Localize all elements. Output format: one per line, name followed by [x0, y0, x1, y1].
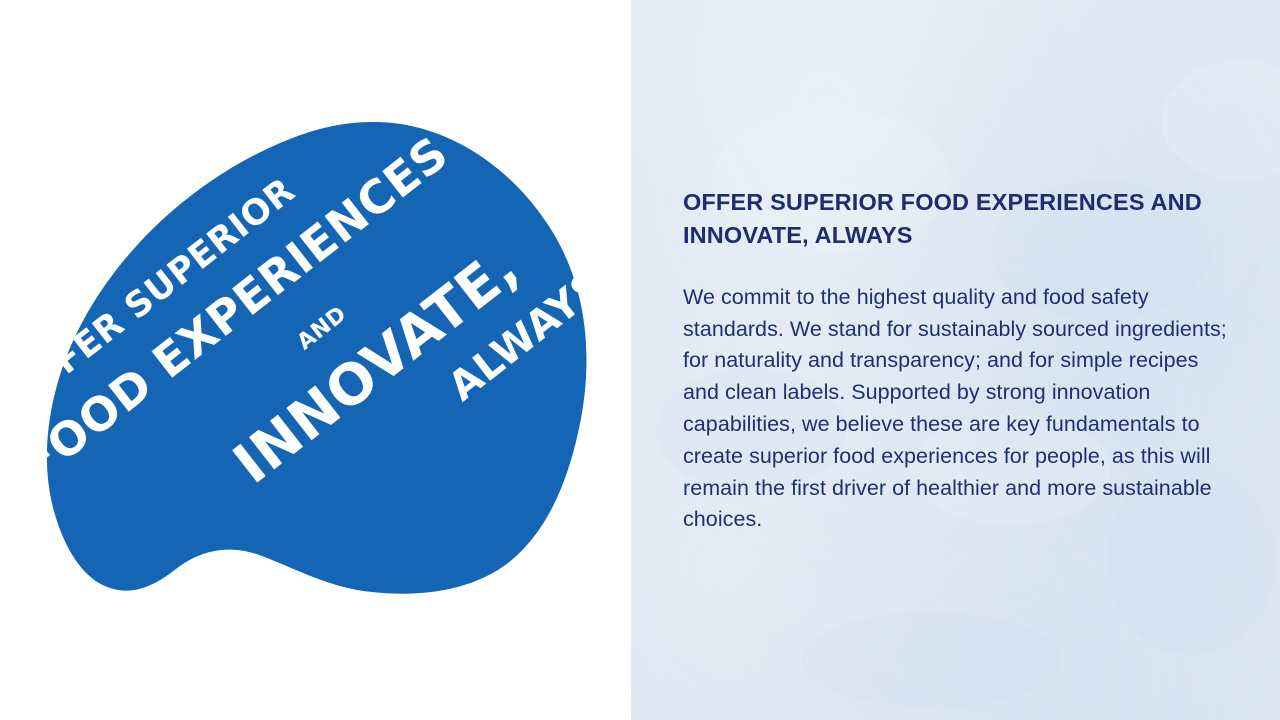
page-title: OFFER SUPERIOR FOOD EXPERIENCES AND INNO… [683, 186, 1239, 253]
blob-graphic: OFFER SUPERIOR FOOD EXPERIENCES AND INNO… [0, 0, 631, 720]
slide: OFFER SUPERIOR FOOD EXPERIENCES AND INNO… [0, 0, 1280, 720]
left-panel: OFFER SUPERIOR FOOD EXPERIENCES AND INNO… [0, 0, 631, 720]
right-panel: OFFER SUPERIOR FOOD EXPERIENCES AND INNO… [631, 0, 1280, 720]
text-content: OFFER SUPERIOR FOOD EXPERIENCES AND INNO… [683, 186, 1239, 536]
body-paragraph: We commit to the highest quality and foo… [683, 253, 1239, 537]
